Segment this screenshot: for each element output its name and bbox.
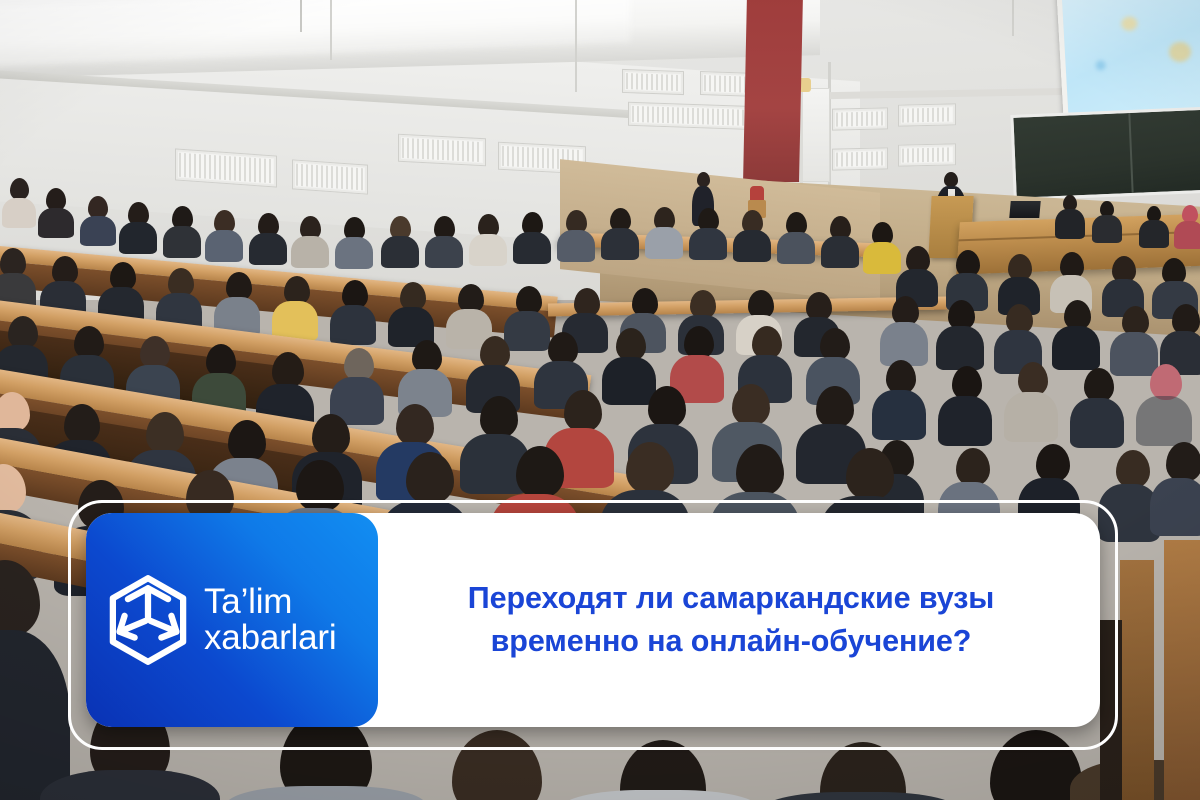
cube-arrows-logo-icon: [106, 574, 190, 666]
headline-text: Переходят ли самаркандские вузы временно…: [468, 577, 994, 664]
screenshot-root: Ta’lim xabarlari Переходят ли самаркандс…: [0, 0, 1200, 800]
brand-name: Ta’lim xabarlari: [204, 584, 336, 655]
headline-area: Переходят ли самаркандские вузы временно…: [378, 513, 1100, 727]
headline-line-2: временно на онлайн-обучение?: [468, 620, 994, 663]
brand-name-line1: Ta’lim: [204, 584, 336, 620]
news-card[interactable]: Ta’lim xabarlari Переходят ли самаркандс…: [86, 513, 1100, 727]
brand-logo-tile[interactable]: Ta’lim xabarlari: [86, 513, 378, 727]
brand-name-line2: xabarlari: [204, 620, 336, 656]
headline-line-1: Переходят ли самаркандские вузы: [468, 577, 994, 620]
